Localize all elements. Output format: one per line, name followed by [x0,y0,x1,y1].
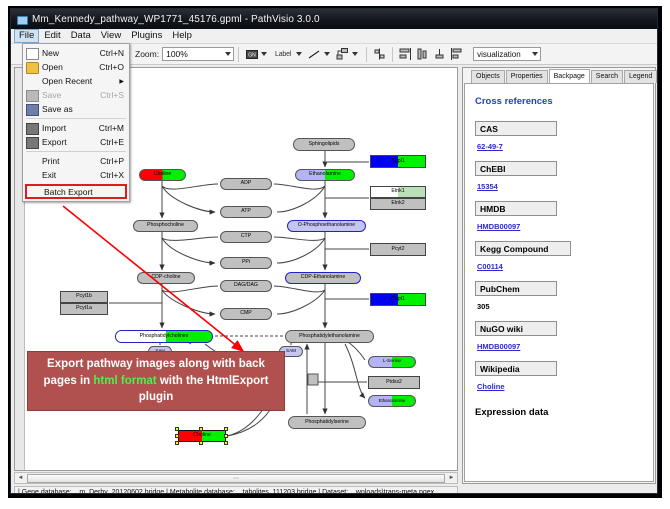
title-bar: Mm_Kennedy_pathway_WP1771_45176.gpml - P… [11,9,657,29]
node-pcyt1b[interactable]: Pcyt1b [60,291,108,303]
backpage-title: Cross references [475,96,645,107]
node-adp[interactable]: ADP [220,178,272,190]
callout-text-2: with the HtmlExport plugin [139,375,269,404]
align-top-icon[interactable] [372,47,387,62]
menu-data[interactable]: Data [66,29,96,43]
menu-edit[interactable]: Edit [39,29,65,43]
xref-label-nugo: NuGO wiki [475,321,557,336]
node-cmp[interactable]: CMP [220,308,272,320]
node-atp[interactable]: ATP [220,206,272,218]
node-cdp-choline[interactable]: CDP-choline [137,272,195,284]
expression-data-title: Expression data [475,407,645,418]
node-phosphatidylserine[interactable]: Phosphatidylserine [288,416,366,429]
node-phosphatidylethanolamine[interactable]: Phosphatidylethanolamine [285,330,374,343]
xref-label-hmdb: HMDB [475,201,557,216]
tab-properties[interactable]: Properties [506,70,548,83]
screenshot-root: Mm_Kennedy_pathway_WP1771_45176.gpml - P… [0,0,670,509]
menu-item-open[interactable]: Open Ctrl+O [23,60,129,74]
selection-handle-ne[interactable] [224,427,228,431]
node-cept1[interactable]: Cept1 [370,293,426,306]
align-left-icon[interactable] [398,47,413,62]
node-sgpl1[interactable]: Sgpl1 [370,155,426,168]
status-bar: | Gene database: ...m_Derby_20120602.bri… [14,486,458,494]
node-l-serine[interactable]: L-Serine [368,356,416,368]
menu-item-exit[interactable]: Exit Ctrl+X [23,168,129,182]
menu-item-new[interactable]: New Ctrl+N [23,46,129,60]
toolbar-separator [238,47,239,62]
menu-view[interactable]: View [96,29,126,43]
node-etnk2[interactable]: Etnk2 [370,198,426,210]
chevron-down-icon-2 [532,52,538,56]
import-icon [26,123,39,135]
export-icon [26,137,39,149]
svg-text:GN: GN [248,52,256,58]
xref-label-chebi: ChEBI [475,161,557,176]
menu-separator-2 [26,151,126,152]
visualization-combo[interactable]: visualization [473,47,541,61]
new-file-icon [26,48,39,60]
tab-strip: Objects Properties Backpage Search Legen… [463,68,655,83]
tab-objects[interactable]: Objects [471,70,505,83]
node-etnk1[interactable]: Etnk1 [370,186,426,198]
node-ppi[interactable]: PPi [220,257,272,269]
align-right-icon[interactable] [449,47,464,62]
menu-bar: File Edit Data View Plugins Help [11,29,657,44]
selection-handle-w[interactable] [175,434,179,438]
selection-handle-sw[interactable] [175,441,179,445]
menu-item-save: Save Ctrl+S [23,88,129,102]
node-o-phosphoethanolamine[interactable]: O-Phosphoethanolamine [287,220,366,232]
scroll-thumb[interactable]: ⋯ [27,474,445,483]
node-phosphatidylcholines[interactable]: Phosphatidylcholines [115,330,213,343]
xref-value-hmdb[interactable]: HMDB00097 [477,222,520,231]
canvas-hscrollbar[interactable]: ◄ ⋯ ► [14,472,458,484]
node-ethanolamine[interactable]: Ethanolamine [295,169,355,181]
window-title: Mm_Kennedy_pathway_WP1771_45176.gpml - P… [32,14,320,25]
datanode-dropdown-icon[interactable] [261,52,267,56]
node-dag[interactable]: DAG/DAG [220,280,272,292]
xref-value-cas[interactable]: 62-49-7 [477,142,503,151]
line-dropdown-icon[interactable] [324,52,330,56]
xref-value-wikipedia[interactable]: Choline [477,382,505,391]
menu-item-export[interactable]: Export Ctrl+E [23,135,129,149]
toolbar-separator-3 [392,47,393,62]
menu-item-open-recent[interactable]: Open Recent ▶ [23,74,129,88]
visualization-value: visualization [477,50,521,59]
label-icon[interactable]: Label [272,47,294,62]
save-icon [26,90,39,102]
save-as-icon [26,104,39,116]
file-menu-popup: New Ctrl+N Open Ctrl+O Open Recent ▶ Sav… [22,43,130,202]
menu-separator-1 [26,118,126,119]
zoom-label: Zoom: [135,49,159,59]
app-icon [16,14,27,25]
callout-highlight: html format [93,375,156,387]
selection-handle-nw[interactable] [175,427,179,431]
interaction-dropdown-icon[interactable] [352,52,358,56]
selection-handle-e[interactable] [224,434,228,438]
node-pcyt2[interactable]: Pcyt2 [370,243,426,256]
align-stack-icon[interactable] [432,47,447,62]
open-folder-icon [26,62,39,74]
annotation-callout: Export pathway images along with back pa… [27,351,285,411]
datanode-icon[interactable]: GN [244,47,259,62]
scroll-right-icon[interactable]: ► [446,473,457,483]
node-cdp-ethanolamine[interactable]: CDP-Ethanolamine [285,272,361,284]
node-choline-top[interactable]: Choline [139,169,186,181]
tab-backpage[interactable]: Backpage [549,69,590,83]
selection-handle-n[interactable] [199,427,203,431]
xref-value-chebi[interactable]: 15354 [477,182,498,191]
tab-search[interactable]: Search [591,70,623,83]
side-panel: ▴ Objects Properties Backpage Search Leg… [462,67,656,484]
interaction-icon[interactable] [335,47,350,62]
selection-handle-se[interactable] [224,441,228,445]
menu-plugins[interactable]: Plugins [126,29,167,43]
xref-label-pubchem: PubChem [475,281,557,296]
xref-value-nugo[interactable]: HMDB00097 [477,342,520,351]
menu-item-batch-export[interactable]: Batch Export [25,184,127,199]
node-sphingolipids[interactable]: Sphingolipids [293,138,355,151]
xref-label-cas: CAS [475,121,557,136]
menu-item-save-as[interactable]: Save as [23,102,129,116]
pathvisio-window: Mm_Kennedy_pathway_WP1771_45176.gpml - P… [10,8,658,494]
xref-label-kegg: Kegg Compound [475,241,571,256]
node-ethanolamine-2[interactable]: Ethanolamine [368,395,416,407]
node-ptdss2[interactable]: Ptdss2 [368,376,420,389]
menu-file[interactable]: File [14,29,39,43]
backpage-panel: Cross references CAS 62-49-7 ChEBI 15354… [464,83,654,482]
submenu-arrow-icon: ▶ [119,78,124,85]
line-icon[interactable] [307,47,322,62]
zoom-value: 100% [166,49,188,59]
selection-handle-s[interactable] [199,441,203,445]
label-dropdown-icon[interactable] [296,52,302,56]
xref-value-pubchem: 305 [477,302,490,311]
toolbar-separator-2 [366,47,367,62]
status-text: | Gene database: ...m_Derby_20120602.bri… [18,489,434,494]
zoom-combo[interactable]: 100% [162,47,234,61]
xref-value-kegg[interactable]: C00114 [477,262,503,271]
align-center-icon[interactable] [415,47,430,62]
node-ctp[interactable]: CTP [220,231,272,243]
chevron-down-icon [225,52,231,56]
menu-help[interactable]: Help [167,29,197,43]
node-phosphocholine[interactable]: Phosphocholine [133,220,198,232]
xref-label-wikipedia: Wikipedia [475,361,557,376]
menu-item-import[interactable]: Import Ctrl+M [23,121,129,135]
scroll-left-icon[interactable]: ◄ [15,473,26,483]
menu-item-print[interactable]: Print Ctrl+P [23,154,129,168]
tab-legend[interactable]: Legend [624,70,657,83]
node-pcyt1a[interactable]: Pcyt1a [60,303,108,315]
